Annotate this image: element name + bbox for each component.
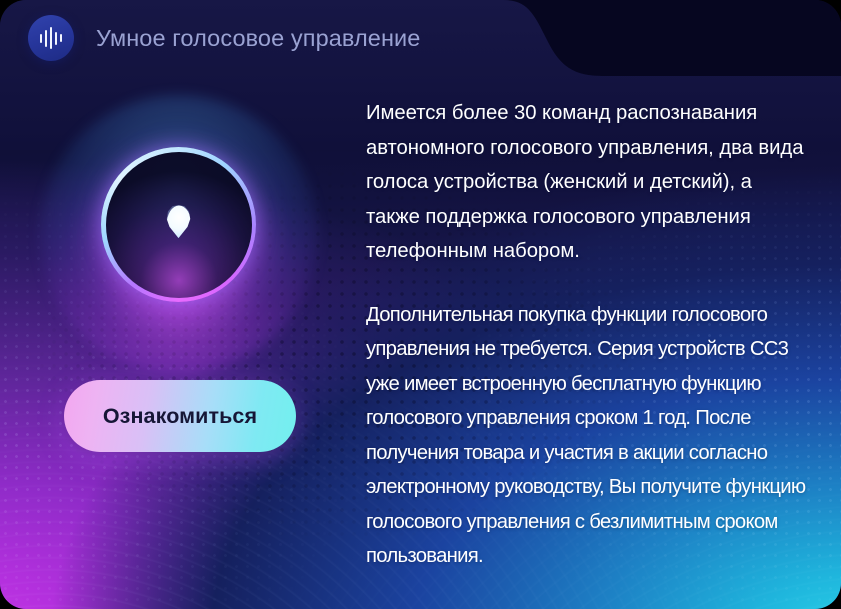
waveform-bar-3: [50, 27, 52, 49]
waveform-bar-1: [40, 34, 42, 43]
waveform-bar-4: [55, 32, 57, 45]
voice-assistant-orb: [101, 147, 256, 302]
description-column: Имеется более 30 команд распознавания ав…: [366, 96, 810, 574]
paragraph-1: Имеется более 30 команд распознавания ав…: [366, 96, 810, 269]
page-title: Умное голосовое управление: [96, 25, 420, 52]
voice-pin-icon: [166, 205, 191, 238]
promo-card: Умное голосовое управление Ознакомиться …: [0, 0, 841, 609]
header-bar: Умное голосовое управление: [0, 0, 841, 76]
learn-more-button[interactable]: Ознакомиться: [64, 380, 296, 452]
orb-ring: [101, 147, 256, 302]
orb-inner: [106, 152, 252, 298]
waveform-bar-5: [60, 34, 62, 42]
voice-waveform-icon: [28, 15, 74, 61]
visual-column: Ознакомиться: [0, 76, 355, 609]
paragraph-2: Дополнительная покупка функции голосовог…: [366, 298, 810, 574]
waveform-bar-2: [45, 30, 47, 47]
